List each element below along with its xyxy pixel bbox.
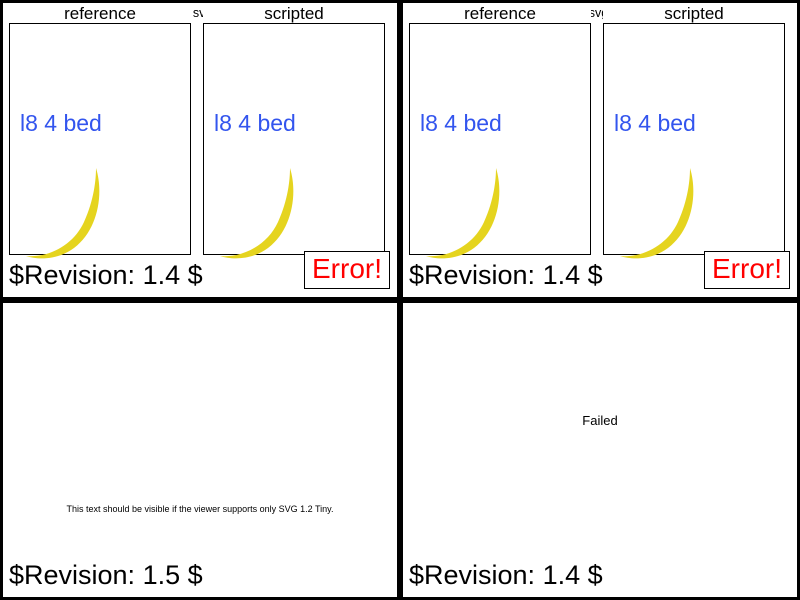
quadrant-top-left: Get-FloatTrait(snapshotTime) on svg and … bbox=[0, 0, 400, 300]
panel-scripted: l8 4 bed bbox=[603, 23, 785, 255]
panel-scripted-text: l8 4 bed bbox=[214, 110, 296, 136]
panel-label-reference: reference bbox=[409, 4, 591, 24]
crescent-moon-icon bbox=[618, 164, 710, 264]
quadrant-top-right: GetFloatTrait(snapshotTime) on svg where… bbox=[400, 0, 800, 300]
panel-label-scripted: scripted bbox=[603, 4, 785, 24]
status-text-bottom-right: Failed bbox=[403, 413, 797, 429]
revision-label-top-left: $Revision: 1.4 $ bbox=[9, 259, 203, 291]
status-badge-top-right: Error! bbox=[704, 251, 790, 289]
quadrant-bottom-right: Failed $Revision: 1.4 $ bbox=[400, 300, 800, 600]
panel-label-scripted: scripted bbox=[203, 4, 385, 24]
panel-reference: l8 4 bed bbox=[9, 23, 191, 255]
panel-scripted: l8 4 bed bbox=[203, 23, 385, 255]
crescent-moon-icon bbox=[424, 164, 516, 264]
panel-reference-text: l8 4 bed bbox=[20, 110, 102, 136]
compare-row-top-right: reference l8 4 bed scripted l8 4 bed bbox=[403, 20, 797, 256]
test-report-page: Get-FloatTrait(snapshotTime) on svg and … bbox=[0, 0, 800, 600]
quadrant-bottom-left: This text should be visible if the viewe… bbox=[0, 300, 400, 600]
status-badge-text: Error! bbox=[712, 253, 782, 284]
revision-label-bottom-left: $Revision: 1.5 $ bbox=[9, 559, 203, 591]
revision-label-bottom-right: $Revision: 1.4 $ bbox=[409, 559, 603, 591]
status-badge-top-left: Error! bbox=[304, 251, 390, 289]
crescent-moon-icon bbox=[24, 164, 116, 264]
panel-reference: l8 4 bed bbox=[409, 23, 591, 255]
panel-label-reference: reference bbox=[9, 4, 191, 24]
crescent-moon-icon bbox=[218, 164, 310, 264]
svg-tiny-support-note: This text should be visible if the viewe… bbox=[3, 503, 397, 515]
panel-scripted-text: l8 4 bed bbox=[614, 110, 696, 136]
compare-row-top-left: reference l8 4 bed scripted l8 4 bed bbox=[3, 20, 397, 256]
status-badge-text: Error! bbox=[312, 253, 382, 284]
revision-label-top-right: $Revision: 1.4 $ bbox=[409, 259, 603, 291]
panel-reference-text: l8 4 bed bbox=[420, 110, 502, 136]
